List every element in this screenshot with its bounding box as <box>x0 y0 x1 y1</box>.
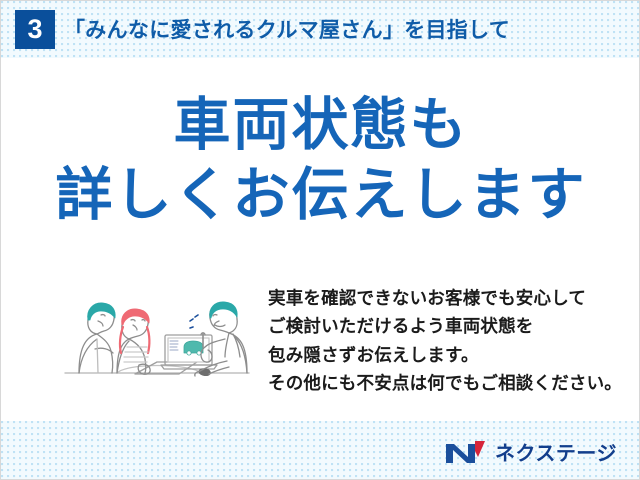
body-copy-line-1: 実車を確認できないお客様でも安心して <box>268 284 613 312</box>
headline: 車両状態も 詳しくお伝えします <box>1 96 640 224</box>
body-copy-line-3: 包み隠さずお伝えします。 <box>268 341 613 369</box>
body-copy-line-4: その他にも不安点は何でもご相談ください。 <box>268 369 613 397</box>
advertisement-banner: 3 「みんなに愛されるクルマ屋さん」を目指して 車両状態も 詳しくお伝えします <box>0 0 640 480</box>
header-band: 3 「みんなに愛されるクルマ屋さん」を目指して <box>1 1 640 58</box>
headline-line-1: 車両状態も <box>1 96 640 154</box>
body-copy: 実車を確認できないお客様でも安心して ご検討いただけるよう車両状態を 包み隠さず… <box>268 284 613 397</box>
consultation-illustration <box>57 277 257 387</box>
brand-name: ネクステージ <box>495 437 617 466</box>
header-title: 「みんなに愛されるクルマ屋さん」を目指して <box>64 14 510 44</box>
footer-band: ネクステージ <box>1 421 640 480</box>
headline-line-2: 詳しくお伝えします <box>1 166 640 224</box>
nextage-n-logo-icon <box>444 439 488 465</box>
section-number-badge: 3 <box>15 10 55 49</box>
body-copy-line-2: ご検討いただけるよう車両状態を <box>268 312 613 340</box>
brand-logo: ネクステージ <box>444 437 617 466</box>
consultation-scene-icon <box>57 277 257 387</box>
